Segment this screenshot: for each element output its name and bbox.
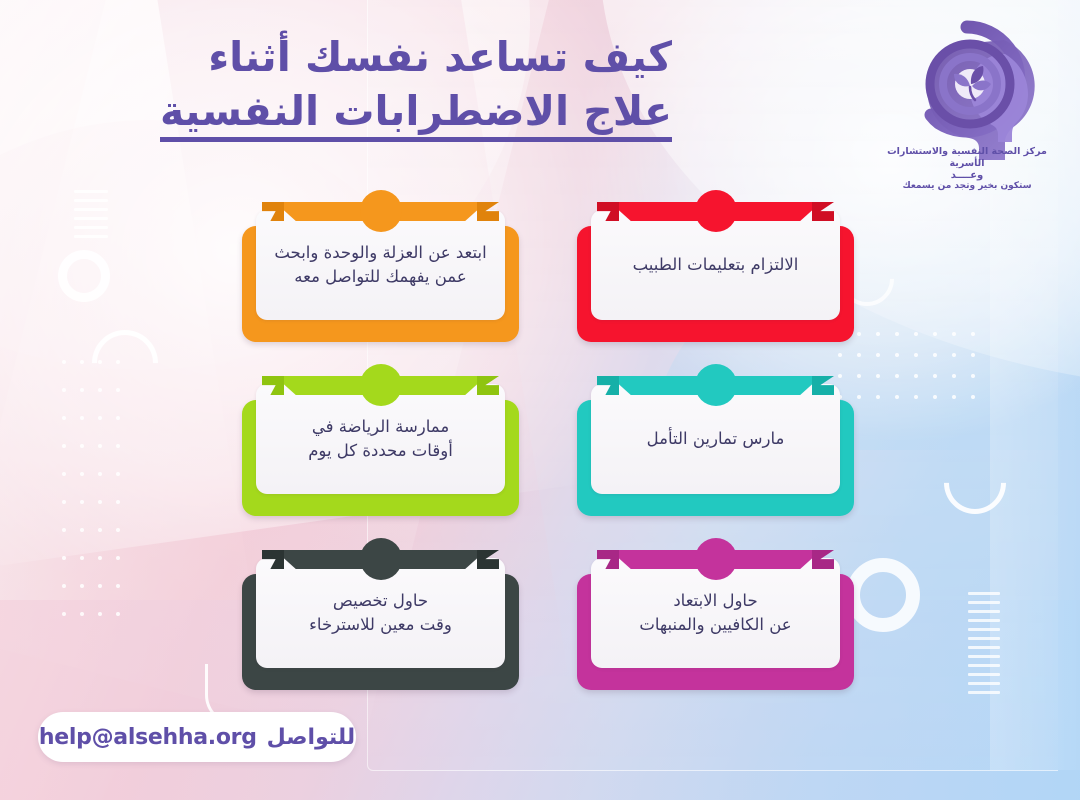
card-label: حاول الابتعاد عن الكافيين والمنبهات	[629, 589, 801, 637]
logo-text-block: مركز الصحة النفسية والاستشارات الأسرية و…	[868, 146, 1066, 193]
title-line-2: علاج الاضطرابات النفسية	[160, 88, 672, 143]
decor-ring-left-upper	[58, 250, 110, 302]
card-label-line: حاول الابتعاد	[639, 589, 791, 613]
card-label: ممارسة الرياضة في أوقات محددة كل يوم	[298, 415, 463, 463]
card-knob-icon	[695, 190, 737, 232]
card-knob-icon	[695, 364, 737, 406]
card-label-line: أوقات محددة كل يوم	[308, 439, 453, 463]
logo-center-name: مركز الصحة النفسية والاستشارات الأسرية	[868, 146, 1066, 170]
infographic-canvas: كيف تساعد نفسك أثناء علاج الاضطرابات الن…	[0, 0, 1080, 800]
card-label-line: ممارسة الرياضة في	[308, 415, 453, 439]
decor-stripes-right	[968, 592, 1000, 712]
card-label: مارس تمارين التأمل	[637, 427, 795, 451]
card-knob-icon	[360, 364, 402, 406]
logo-brand-name: وعــــد	[868, 170, 1066, 182]
tip-card-relaxation-time[interactable]: حاول تخصيص وقت معين للاسترخاء	[238, 538, 523, 690]
card-label-line: ابتعد عن العزلة والوحدة وابحث	[274, 241, 486, 265]
logo-tagline: ستكون بخير وتجد من يسمعك	[868, 181, 1066, 192]
card-label-line: وقت معين للاسترخاء	[309, 613, 452, 637]
card-label: الالتزام بتعليمات الطبيب	[623, 253, 809, 277]
contact-label: للتواصل	[267, 725, 355, 750]
tips-grid: الالتزام بتعليمات الطبيب ابتعد عن العزلة…	[238, 190, 858, 700]
page-title: كيف تساعد نفسك أثناء علاج الاضطرابات الن…	[82, 34, 672, 142]
card-label-line: مارس تمارين التأمل	[647, 427, 785, 451]
title-line-1: كيف تساعد نفسك أثناء	[82, 34, 672, 82]
card-label-line: عن الكافيين والمنبهات	[639, 613, 791, 637]
card-knob-icon	[360, 190, 402, 232]
card-label: ابتعد عن العزلة والوحدة وابحث عمن يفهمك …	[264, 241, 496, 289]
card-label: حاول تخصيص وقت معين للاسترخاء	[299, 589, 462, 637]
decor-dot-grid-right	[838, 332, 974, 412]
card-knob-icon	[695, 538, 737, 580]
tip-card-meditation[interactable]: مارس تمارين التأمل	[573, 364, 858, 516]
tip-card-daily-exercise[interactable]: ممارسة الرياضة في أوقات محددة كل يوم	[238, 364, 523, 516]
decor-stripes-top-left	[74, 190, 108, 250]
card-label-line: الالتزام بتعليمات الطبيب	[633, 253, 799, 277]
tip-card-avoid-isolation[interactable]: ابتعد عن العزلة والوحدة وابحث عمن يفهمك …	[238, 190, 523, 342]
card-label-line: عمن يفهمك للتواصل معه	[274, 265, 486, 289]
card-knob-icon	[360, 538, 402, 580]
card-label-line: حاول تخصيص	[309, 589, 452, 613]
tip-card-avoid-caffeine[interactable]: حاول الابتعاد عن الكافيين والمنبهات	[573, 538, 858, 690]
contact-email[interactable]: help@alsehha.org	[39, 725, 257, 750]
decor-dot-grid-left	[62, 360, 122, 640]
tip-card-doctor-instructions[interactable]: الالتزام بتعليمات الطبيب	[573, 190, 858, 342]
contact-footer[interactable]: للتواصل help@alsehha.org	[38, 712, 356, 762]
